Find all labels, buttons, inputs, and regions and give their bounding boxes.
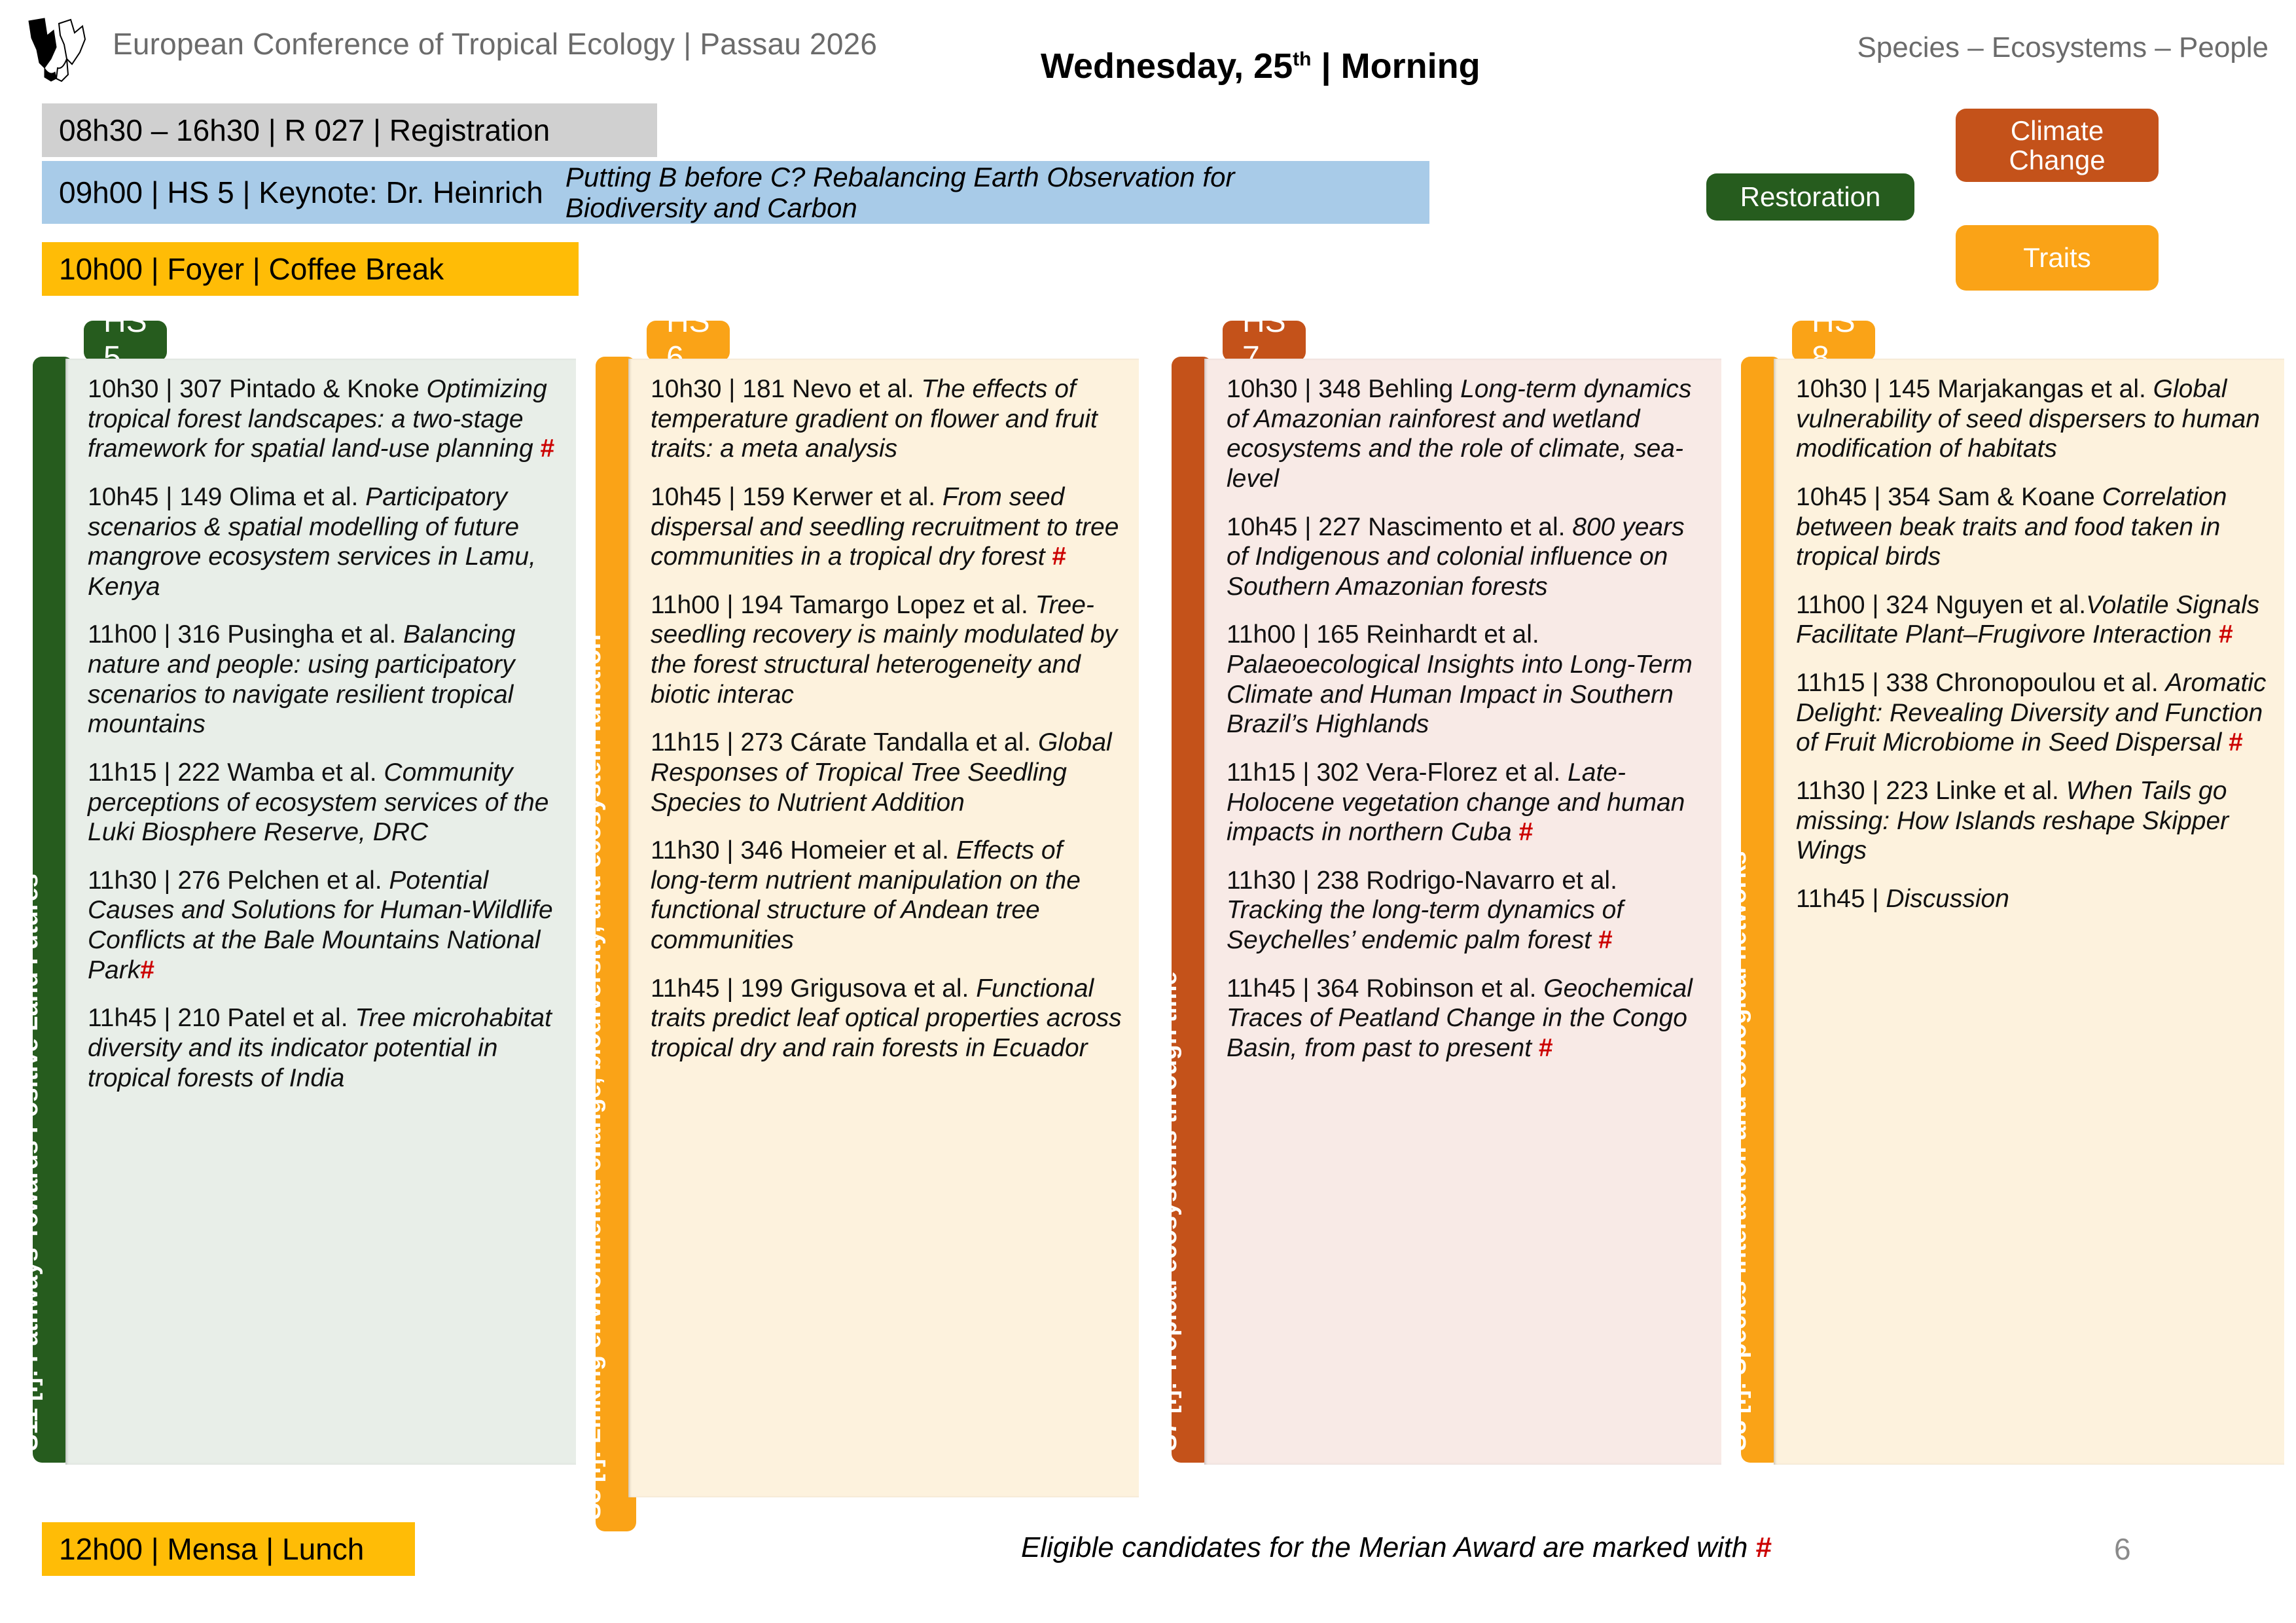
slide-title-date: Wednesday, 25: [1041, 46, 1293, 86]
merian-award-marker-icon: #: [541, 435, 555, 463]
talk-title: Discussion: [1886, 885, 2009, 913]
merian-award-note: Eligible candidates for the Merian Award…: [1021, 1531, 1772, 1564]
lunch-bar: 12h00 | Mensa | Lunch: [42, 1522, 415, 1576]
talk-entry: 11h00 | 194 Tamargo Lopez et al. Tree-se…: [651, 590, 1122, 710]
talk-entry: 10h30 | 145 Marjakangas et al. Global vu…: [1796, 374, 2267, 464]
talk-title: Palaeoecological Insights into Long-Term…: [1227, 651, 1693, 738]
talk-entry: 10h30 | 307 Pintado & Knoke Optimizing t…: [88, 374, 559, 464]
talk-entry: 11h30 | 238 Rodrigo-Navarro et al. Track…: [1227, 866, 1704, 955]
talk-meta: 10h45 | 227 Nascimento et al.: [1227, 513, 1572, 541]
conference-title: European Conference of Tropical Ecology …: [113, 26, 877, 62]
talk-entry: 11h15 | 273 Cárate Tandalla et al. Globa…: [651, 728, 1122, 817]
merian-award-marker-icon: #: [140, 956, 154, 984]
talk-meta: 10h45 | 354 Sam & Koane: [1796, 483, 2102, 511]
talk-meta: 11h30 | 238 Rodrigo-Navarro et al.: [1227, 866, 1617, 895]
talk-entry: 11h30 | 276 Pelchen et al. Potential Cau…: [88, 866, 559, 986]
session-title-hs7: S7 [I]: Tropical ecosystems through time: [1155, 971, 1183, 1451]
talk-list-hs6: 10h30 | 181 Nevo et al. The effects of t…: [628, 359, 1139, 1497]
lunch-label: 12h00 | Mensa | Lunch: [59, 1531, 364, 1567]
talk-entry: 10h45 | 354 Sam & Koane Correlation betw…: [1796, 482, 2267, 572]
keynote-bar: 09h00 | HS 5 | Keynote: Dr. Heinrich Put…: [42, 161, 1429, 224]
page-number: 6: [2114, 1531, 2131, 1567]
talk-entry: 11h30 | 346 Homeier et al. Effects of lo…: [651, 836, 1122, 955]
talk-list-hs7: 10h30 | 348 Behling Long-term dynamics o…: [1204, 359, 1721, 1465]
talk-entry: 11h00 | 324 Nguyen et al.Volatile Signal…: [1796, 590, 2267, 650]
page-title: Wednesday, 25th | Morning: [1041, 46, 1480, 86]
room-chip-hs8: HS 8: [1792, 321, 1875, 361]
merian-award-marker-icon: #: [1052, 543, 1066, 571]
session-title-hs8: S8 [I]: Species interaction and ecologic…: [1724, 851, 1752, 1451]
talk-entry: 11h15 | 302 Vera-Florez et al. Late-Holo…: [1227, 758, 1704, 847]
talk-meta: 10h45 | 159 Kerwer et al.: [651, 483, 942, 511]
talk-entry: 11h45 | Discussion: [1796, 884, 2267, 914]
coffee-break-bar: 10h00 | Foyer | Coffee Break: [42, 242, 579, 296]
talk-entry: 10h45 | 149 Olima et al. Participatory s…: [88, 482, 559, 602]
talk-meta: 10h30 | 181 Nevo et al.: [651, 375, 921, 403]
talk-title: Tracking the long-term dynamics of Seych…: [1227, 896, 1623, 954]
talk-meta: 11h30 | 223 Linke et al.: [1796, 777, 2066, 805]
talk-entry: 11h45 | 210 Patel et al. Tree microhabit…: [88, 1003, 559, 1093]
talk-meta: 10h30 | 145 Marjakangas et al.: [1796, 375, 2153, 403]
conference-tagline: Species – Ecosystems – People: [1857, 31, 2269, 64]
talk-entry: 11h00 | 165 Reinhardt et al. Palaeoecolo…: [1227, 620, 1704, 740]
slide-title-period: | Morning: [1312, 46, 1480, 86]
talk-meta: 11h15 | 302 Vera-Florez et al.: [1227, 758, 1568, 787]
room-chip-hs7: HS 7: [1223, 321, 1306, 361]
bat-logo-icon: [25, 16, 97, 84]
talk-meta: 11h00 | 194 Tamargo Lopez et al.: [651, 591, 1035, 619]
talk-entry: 10h30 | 181 Nevo et al. The effects of t…: [651, 374, 1122, 464]
talk-entry: 10h45 | 159 Kerwer et al. From seed disp…: [651, 482, 1122, 572]
talk-entry: 11h15 | 222 Wamba et al. Community perce…: [88, 758, 559, 847]
talk-meta: 11h30 | 276 Pelchen et al.: [88, 866, 389, 895]
talk-entry: 10h30 | 348 Behling Long-term dynamics o…: [1227, 374, 1704, 494]
room-chip-hs6: HS 6: [647, 321, 730, 361]
talk-meta: 11h30 | 346 Homeier et al.: [651, 836, 956, 865]
talk-entry: 11h30 | 223 Linke et al. When Tails go m…: [1796, 776, 2267, 866]
talk-meta: 11h15 | 273 Cárate Tandalla et al.: [651, 728, 1038, 757]
topic-tag-traits: Traits: [1956, 225, 2159, 291]
talk-entry: 10h45 | 227 Nascimento et al. 800 years …: [1227, 512, 1704, 602]
talk-entry: 11h15 | 338 Chronopoulou et al. Aromatic…: [1796, 668, 2267, 758]
talk-list-hs5: 10h30 | 307 Pintado & Knoke Optimizing t…: [65, 359, 576, 1465]
keynote-speaker-label: 09h00 | HS 5 | Keynote: Dr. Heinrich: [59, 175, 543, 210]
merian-award-marker-icon: #: [2229, 728, 2243, 757]
talk-meta: 11h15 | 222 Wamba et al.: [88, 758, 384, 787]
talk-meta: 11h45 | 364 Robinson et al.: [1227, 974, 1543, 1003]
talk-meta: 10h30 | 307 Pintado & Knoke: [88, 375, 427, 403]
session-title-hs5: S11 [I]: Pathways Towards Positive Land …: [16, 874, 44, 1451]
talk-entry: 11h45 | 364 Robinson et al. Geochemical …: [1227, 974, 1704, 1063]
talk-meta: 10h45 | 149 Olima et al.: [88, 483, 365, 511]
talk-meta: 11h15 | 338 Chronopoulou et al.: [1796, 669, 2166, 697]
merian-award-note-text: Eligible candidates for the Merian Award…: [1021, 1531, 1756, 1563]
session-title-hs6: S3 [I]: Linking environmental change, bi…: [579, 634, 607, 1520]
talk-meta: 11h45 |: [1796, 885, 1886, 913]
merian-award-marker-icon: #: [1539, 1034, 1553, 1062]
merian-award-symbol: #: [1756, 1531, 1772, 1563]
talk-meta: 11h45 | 210 Patel et al.: [88, 1004, 355, 1032]
talk-entry: 11h00 | 316 Pusingha et al. Balancing na…: [88, 620, 559, 740]
talk-meta: 11h00 | 165 Reinhardt et al.: [1227, 620, 1539, 649]
talk-meta: 11h00 | 316 Pusingha et al.: [88, 620, 403, 649]
talk-meta: 11h45 | 199 Grigusova et al.: [651, 974, 976, 1003]
slide-title-ordinal: th: [1293, 48, 1311, 70]
room-chip-hs5: HS 5: [84, 321, 167, 361]
talk-entry: 11h45 | 199 Grigusova et al. Functional …: [651, 974, 1122, 1063]
talk-list-hs8: 10h30 | 145 Marjakangas et al. Global vu…: [1774, 359, 2284, 1465]
talk-meta: 10h30 | 348 Behling: [1227, 375, 1460, 403]
topic-tag-restoration: Restoration: [1706, 173, 1914, 221]
keynote-title-label: Putting B before C? Rebalancing Earth Ob…: [565, 162, 1344, 223]
merian-award-marker-icon: #: [1598, 926, 1613, 954]
registration-label: 08h30 – 16h30 | R 027 | Registration: [59, 113, 550, 148]
merian-award-marker-icon: #: [2219, 620, 2233, 649]
merian-award-marker-icon: #: [1519, 818, 1534, 846]
topic-tag-climate-change: Climate Change: [1956, 109, 2159, 182]
registration-bar: 08h30 – 16h30 | R 027 | Registration: [42, 103, 657, 157]
talk-meta: 11h00 | 324 Nguyen et al.: [1796, 591, 2086, 619]
coffee-break-label: 10h00 | Foyer | Coffee Break: [59, 251, 444, 287]
